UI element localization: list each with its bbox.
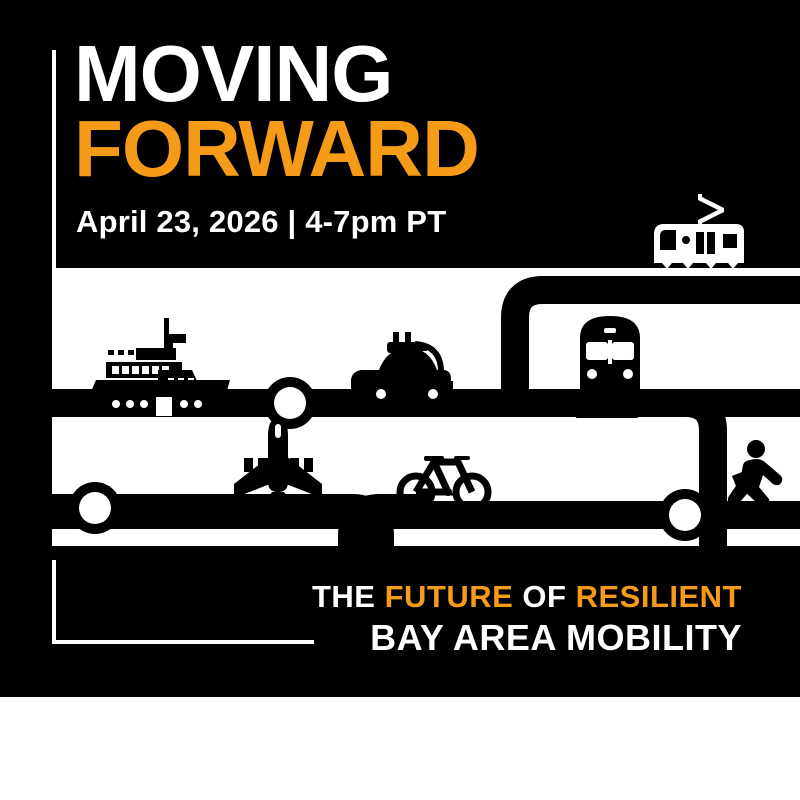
- station-marker-inner: [669, 499, 701, 531]
- transit-map-panel: [52, 268, 800, 560]
- route-line-top-right: [515, 290, 800, 403]
- headline-line-2: FORWARD: [74, 111, 714, 186]
- event-date-time: April 23, 2026 | 4-7pm PT: [76, 204, 446, 240]
- headline-block: MOVING FORWARD: [74, 36, 714, 186]
- poster-canvas: MOVING FORWARD April 23, 2026 | 4-7pm PT: [0, 0, 800, 800]
- route-line-bottom-bar: [52, 546, 800, 560]
- station-marker-inner: [274, 387, 306, 419]
- ferry-icon: [84, 318, 234, 416]
- tagline-of: OF: [513, 579, 575, 614]
- tagline-resilient: RESILIENT: [576, 579, 742, 614]
- headline-line-1: MOVING: [74, 36, 714, 111]
- tagline-future: FUTURE: [385, 579, 514, 614]
- tagline-line-2: BAY AREA MOBILITY: [312, 616, 742, 659]
- tram-icon: [640, 190, 760, 275]
- tagline-the: THE: [312, 579, 385, 614]
- tagline-block: THE FUTURE OF RESILIENT BAY AREA MOBILIT…: [312, 578, 742, 660]
- footer-bar: Gensler: [0, 697, 800, 800]
- frame-rule-horizontal: [52, 640, 314, 644]
- tagline-line-1: THE FUTURE OF RESILIENT: [312, 578, 742, 616]
- station-marker-inner: [79, 492, 111, 524]
